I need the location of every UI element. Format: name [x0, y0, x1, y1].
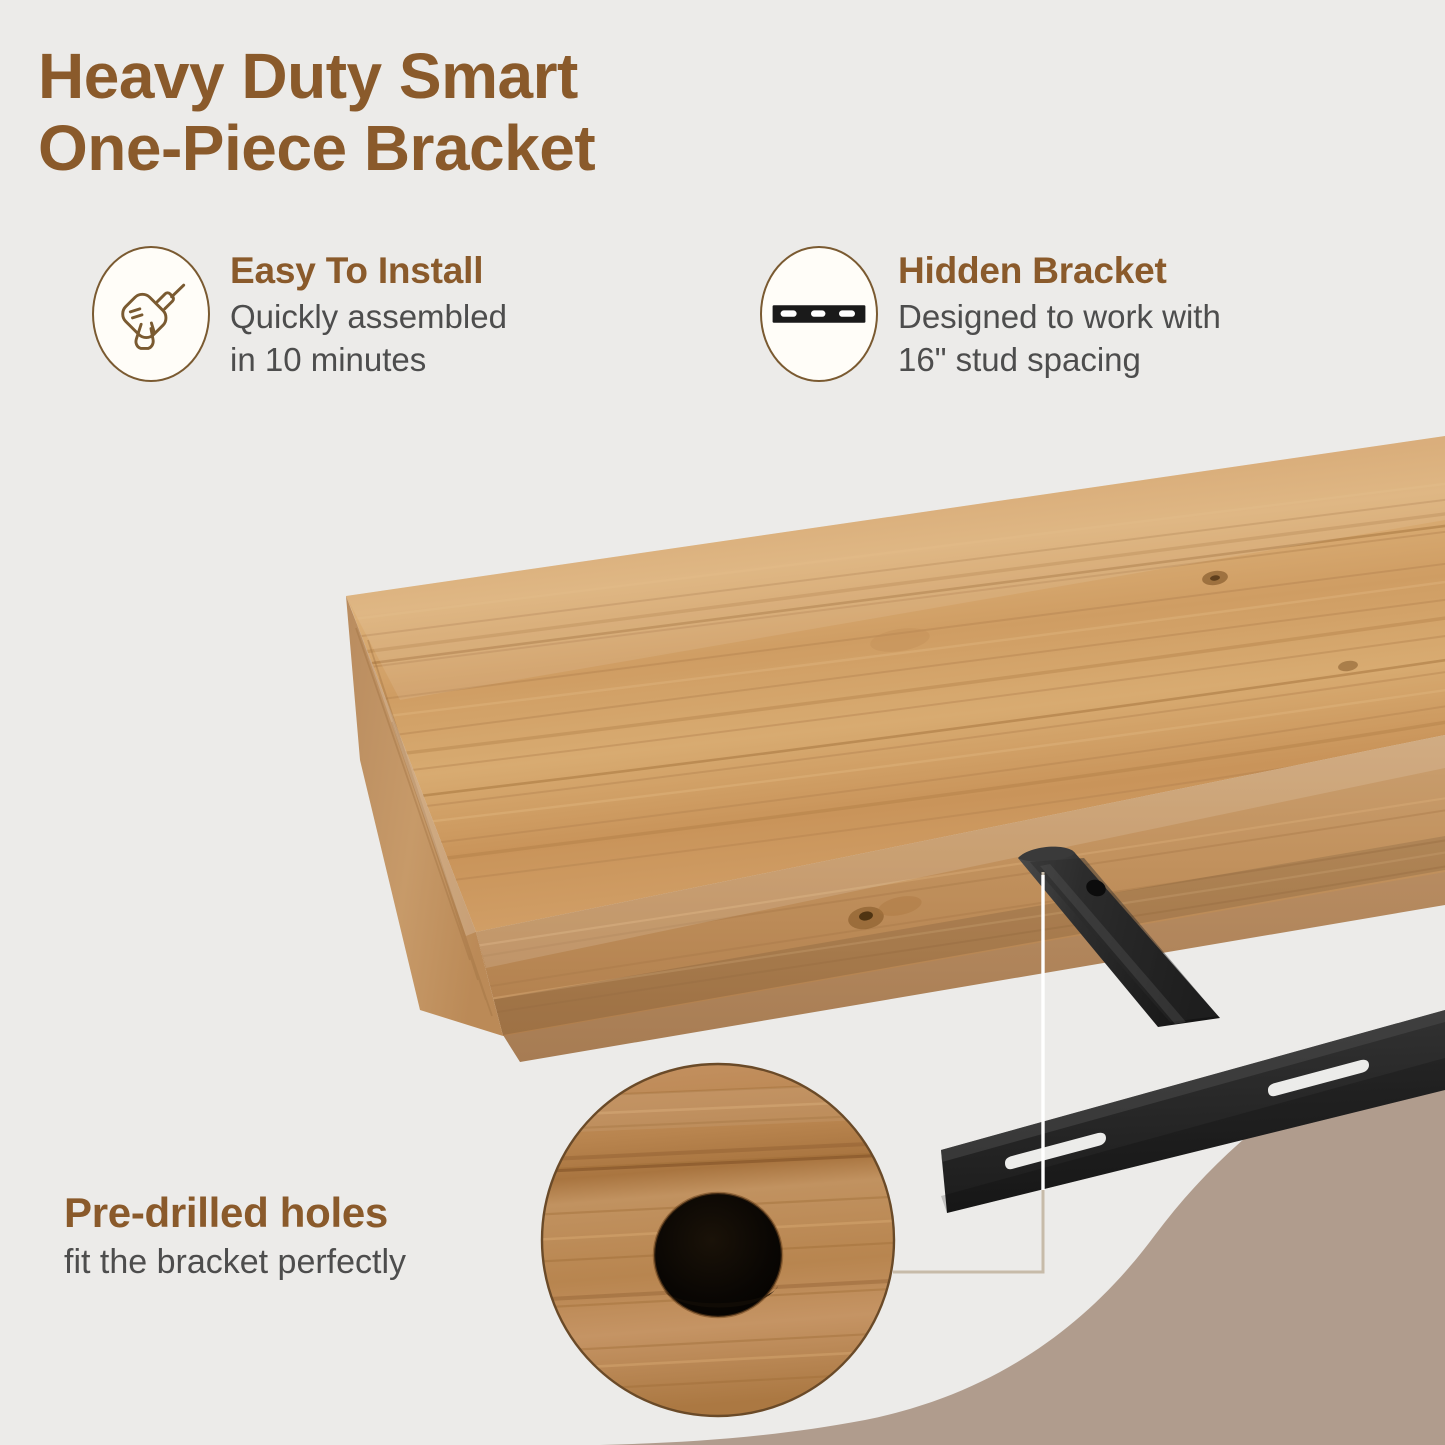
magnifier-predrilled-hole: [530, 1064, 910, 1416]
caption-pre-drilled-holes: Pre-drilled holes fit the bracket perfec…: [64, 1190, 544, 1283]
infographic-canvas: Heavy Duty Smart One-Piece Bracket: [0, 0, 1445, 1445]
caption-subtitle: fit the bracket perfectly: [64, 1242, 544, 1283]
caption-title: Pre-drilled holes: [64, 1190, 544, 1236]
bracket-wall-bar: [941, 1010, 1445, 1213]
